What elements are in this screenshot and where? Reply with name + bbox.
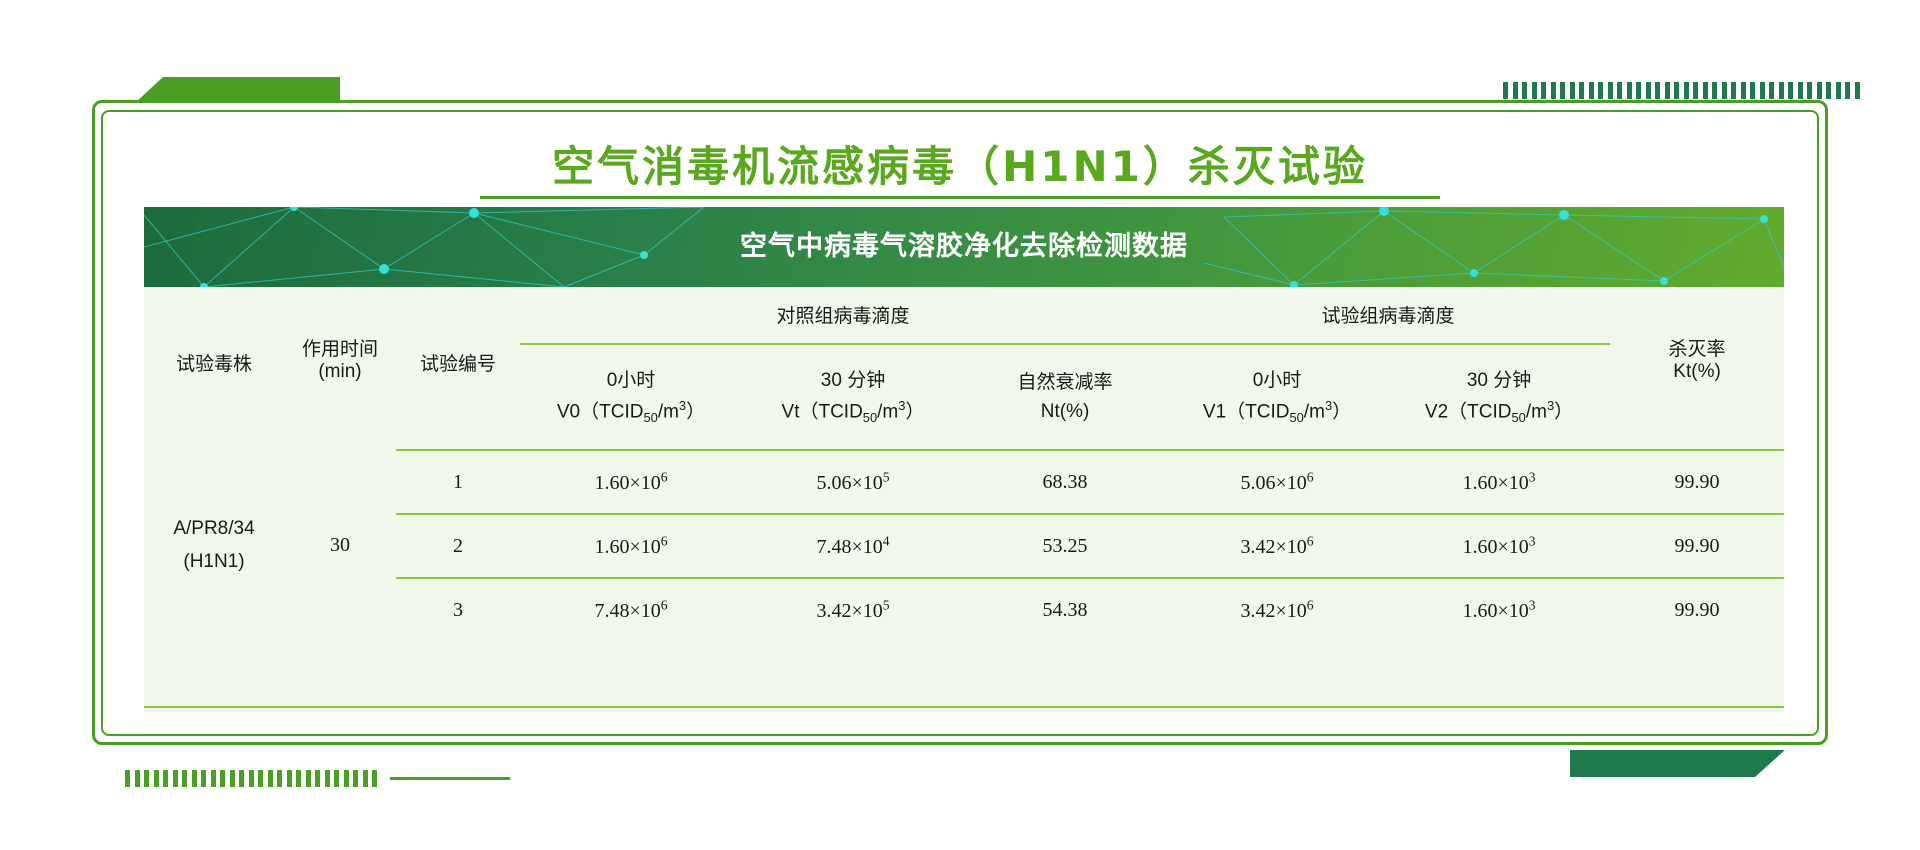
cell-kt: 99.90	[1610, 450, 1784, 514]
dash-segment	[1741, 82, 1746, 99]
dash-segment	[1836, 82, 1841, 99]
dash-segment	[344, 770, 349, 787]
cell-v1: 3.42×106	[1166, 514, 1388, 578]
header-strain: 试验毒株	[144, 287, 284, 450]
dash-segment	[1674, 82, 1679, 99]
dash-segment	[306, 770, 311, 787]
dash-segment	[1570, 82, 1575, 99]
dash-segment	[1636, 82, 1641, 99]
dash-segment	[230, 770, 235, 787]
dash-segment	[1598, 82, 1603, 99]
cell-v0: 1.60×106	[520, 450, 742, 514]
dash-segment	[1693, 82, 1698, 99]
header-kill-rate: 杀灭率 Kt(%)	[1610, 287, 1784, 450]
dash-segment	[1855, 82, 1860, 99]
results-table: 试验毒株 作用时间 (min) 试验编号 对照组病毒滴度 试验组病毒滴度 杀灭率…	[144, 287, 1784, 641]
dash-segment	[1541, 82, 1546, 99]
dash-segment	[1627, 82, 1632, 99]
dash-segment	[353, 770, 358, 787]
dash-segment	[1826, 82, 1831, 99]
cell-nt: 54.38	[964, 578, 1166, 641]
dash-segment	[1646, 82, 1651, 99]
header-v1: 0小时 V1（TCID50/m3）	[1166, 344, 1388, 450]
dash-segment	[249, 770, 254, 787]
cell-v1: 5.06×106	[1166, 450, 1388, 514]
cell-v2: 1.60×103	[1388, 514, 1610, 578]
header-v0: 0小时 V0（TCID50/m3）	[520, 344, 742, 450]
cell-v0: 7.48×106	[520, 578, 742, 641]
results-table-body: A/PR8/34(H1N1)3011.60×1065.06×10568.385.…	[144, 450, 1784, 641]
cell-v0: 1.60×106	[520, 514, 742, 578]
dash-segment	[363, 770, 368, 787]
dash-segment	[173, 770, 178, 787]
header-test-no: 试验编号	[396, 287, 520, 450]
dash-segment	[1760, 82, 1765, 99]
table-row: A/PR8/34(H1N1)3011.60×1065.06×10568.385.…	[144, 450, 1784, 514]
dash-segment	[1684, 82, 1689, 99]
header-contact-time: 作用时间 (min)	[284, 287, 396, 450]
dash-segment	[1551, 82, 1556, 99]
dash-segment	[1579, 82, 1584, 99]
dash-decoration-bottom-left	[125, 770, 383, 787]
dash-segment	[1703, 82, 1708, 99]
header-nt: 自然衰减率 Nt(%)	[964, 344, 1166, 450]
cell-test-no: 2	[396, 514, 520, 578]
dash-segment	[1798, 82, 1803, 99]
dash-segment	[1769, 82, 1774, 99]
dash-segment	[258, 770, 263, 787]
cell-kt: 99.90	[1610, 578, 1784, 641]
cell-strain: A/PR8/34(H1N1)	[144, 450, 284, 641]
dash-tail-bottom-left	[390, 777, 510, 780]
group-header-control: 对照组病毒滴度	[520, 287, 1166, 344]
dash-segment	[1731, 82, 1736, 99]
dash-segment	[1722, 82, 1727, 99]
cell-vt: 7.48×104	[742, 514, 964, 578]
dash-segment	[239, 770, 244, 787]
dash-segment	[1655, 82, 1660, 99]
cell-v1: 3.42×106	[1166, 578, 1388, 641]
cell-contact-time: 30	[284, 450, 396, 641]
header-vt: 30 分钟 Vt（TCID50/m3）	[742, 344, 964, 450]
dash-segment	[1665, 82, 1670, 99]
dash-segment	[154, 770, 159, 787]
dash-segment	[1817, 82, 1822, 99]
cell-v2: 1.60×103	[1388, 450, 1610, 514]
dash-segment	[334, 770, 339, 787]
dash-segment	[220, 770, 225, 787]
data-table-container: 试验毒株 作用时间 (min) 试验编号 对照组病毒滴度 试验组病毒滴度 杀灭率…	[144, 287, 1784, 712]
dash-segment	[1712, 82, 1717, 99]
cell-vt: 3.42×105	[742, 578, 964, 641]
banner-title: 空气中病毒气溶胶净化去除检测数据	[144, 207, 1784, 287]
dash-segment	[163, 770, 168, 787]
dash-segment	[1779, 82, 1784, 99]
dash-segment	[315, 770, 320, 787]
dash-segment	[268, 770, 273, 787]
dash-segment	[182, 770, 187, 787]
header-v2: 30 分钟 V2（TCID50/m3）	[1388, 344, 1610, 450]
dash-segment	[1617, 82, 1622, 99]
dash-segment	[287, 770, 292, 787]
cell-v2: 1.60×103	[1388, 578, 1610, 641]
cell-nt: 68.38	[964, 450, 1166, 514]
dash-segment	[125, 770, 130, 787]
dash-segment	[1503, 82, 1508, 99]
dash-segment	[144, 770, 149, 787]
corner-decoration-bottom-right	[1570, 750, 1785, 777]
dash-segment	[372, 770, 377, 787]
cell-test-no: 1	[396, 450, 520, 514]
dash-segment	[1788, 82, 1793, 99]
dash-segment	[201, 770, 206, 787]
group-header-row: 试验毒株 作用时间 (min) 试验编号 对照组病毒滴度 试验组病毒滴度 杀灭率…	[144, 287, 1784, 344]
dash-decoration-top-right	[1503, 82, 1863, 99]
page-title: 空气消毒机流感病毒（H1N1）杀灭试验	[0, 133, 1920, 194]
dash-segment	[1513, 82, 1518, 99]
group-header-test: 试验组病毒滴度	[1166, 287, 1610, 344]
dash-segment	[296, 770, 301, 787]
cell-test-no: 3	[396, 578, 520, 641]
dash-segment	[1845, 82, 1850, 99]
dash-segment	[1807, 82, 1812, 99]
dash-segment	[325, 770, 330, 787]
dash-segment	[192, 770, 197, 787]
title-underline	[480, 196, 1440, 199]
cell-vt: 5.06×105	[742, 450, 964, 514]
dash-segment	[277, 770, 282, 787]
dash-segment	[1560, 82, 1565, 99]
dash-segment	[1608, 82, 1613, 99]
dash-segment	[1532, 82, 1537, 99]
dash-segment	[1750, 82, 1755, 99]
dash-segment	[1522, 82, 1527, 99]
dash-segment	[135, 770, 140, 787]
dash-segment	[1589, 82, 1594, 99]
table-banner: 空气中病毒气溶胶净化去除检测数据	[144, 207, 1784, 287]
cell-nt: 53.25	[964, 514, 1166, 578]
cell-kt: 99.90	[1610, 514, 1784, 578]
dash-segment	[211, 770, 216, 787]
table-bottom-rule	[144, 706, 1784, 708]
